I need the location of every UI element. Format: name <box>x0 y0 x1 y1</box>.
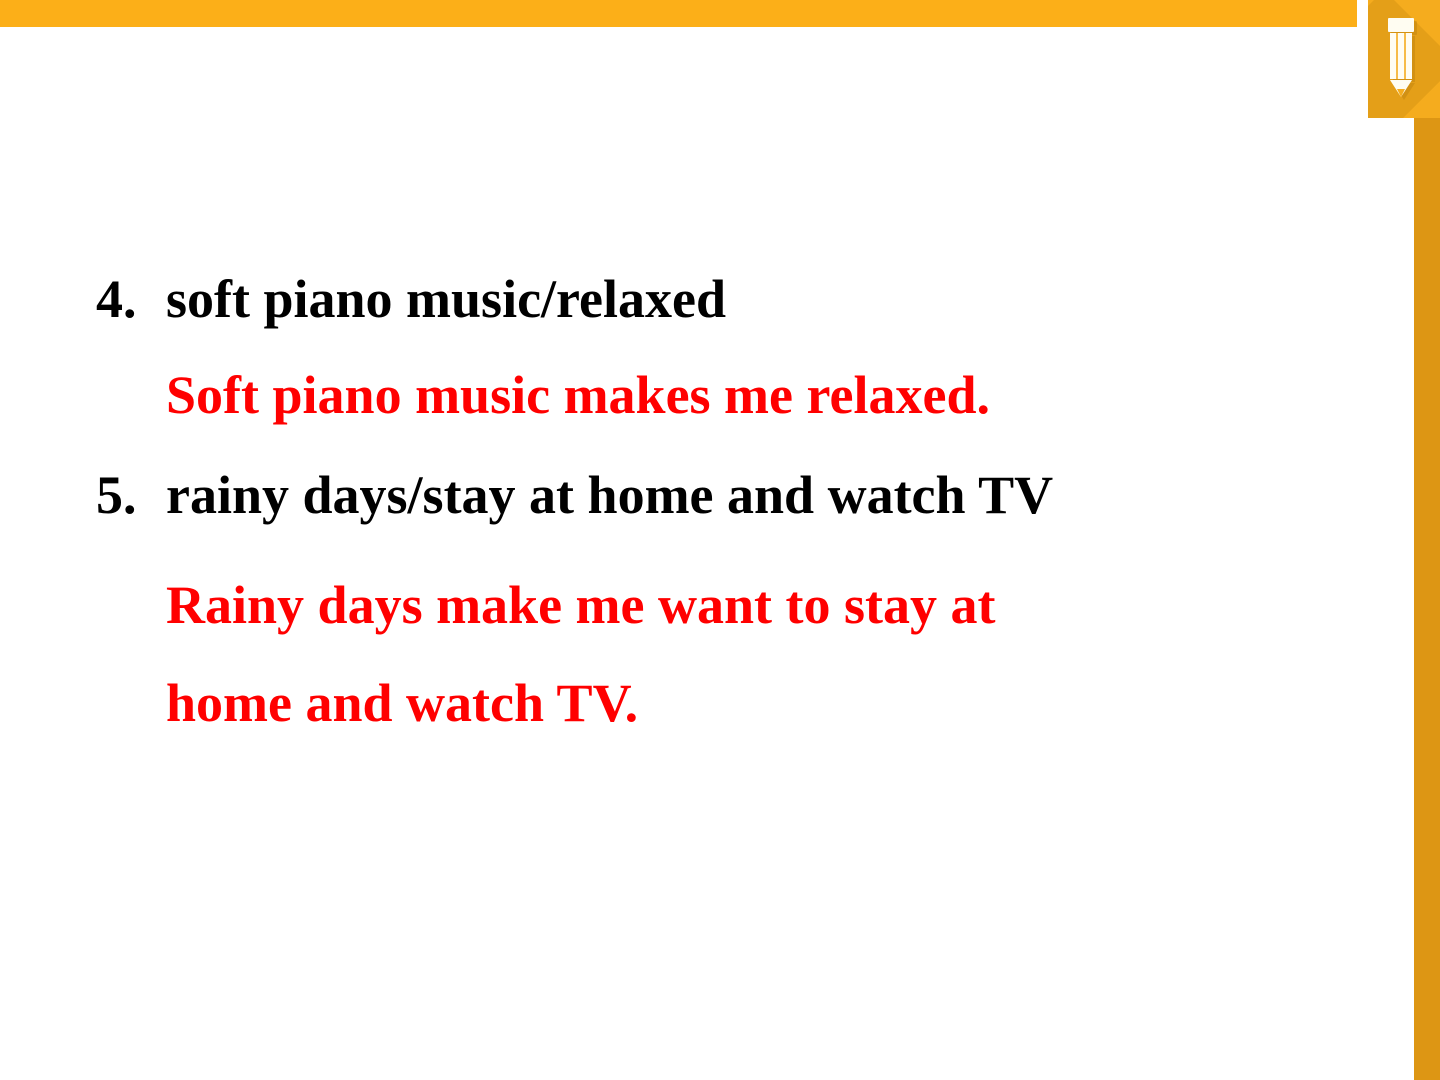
slide-content: 4. soft piano music/relaxed Soft piano m… <box>96 272 1326 730</box>
spacer <box>96 632 1326 676</box>
decor-top-bar <box>0 0 1357 27</box>
list-item: 5. rainy days/stay at home and watch TV <box>96 468 1326 522</box>
item-number: 5. <box>96 468 166 522</box>
spacer <box>96 422 1326 468</box>
item-number: 4. <box>96 272 166 326</box>
decor-right-strip <box>1414 0 1440 1080</box>
pencil-icon <box>1384 18 1418 100</box>
item-answer-line: home and watch TV. <box>166 676 1326 730</box>
item-answer-line: Rainy days make me want to stay at <box>166 578 1326 632</box>
item-prompt: rainy days/stay at home and watch TV <box>166 468 1053 522</box>
spacer <box>96 522 1326 578</box>
list-item: 4. soft piano music/relaxed <box>96 272 1326 326</box>
item-prompt: soft piano music/relaxed <box>166 272 726 326</box>
spacer <box>96 326 1326 368</box>
slide-canvas: 4. soft piano music/relaxed Soft piano m… <box>0 0 1440 1080</box>
item-answer-line: Soft piano music makes me relaxed. <box>166 368 1326 422</box>
